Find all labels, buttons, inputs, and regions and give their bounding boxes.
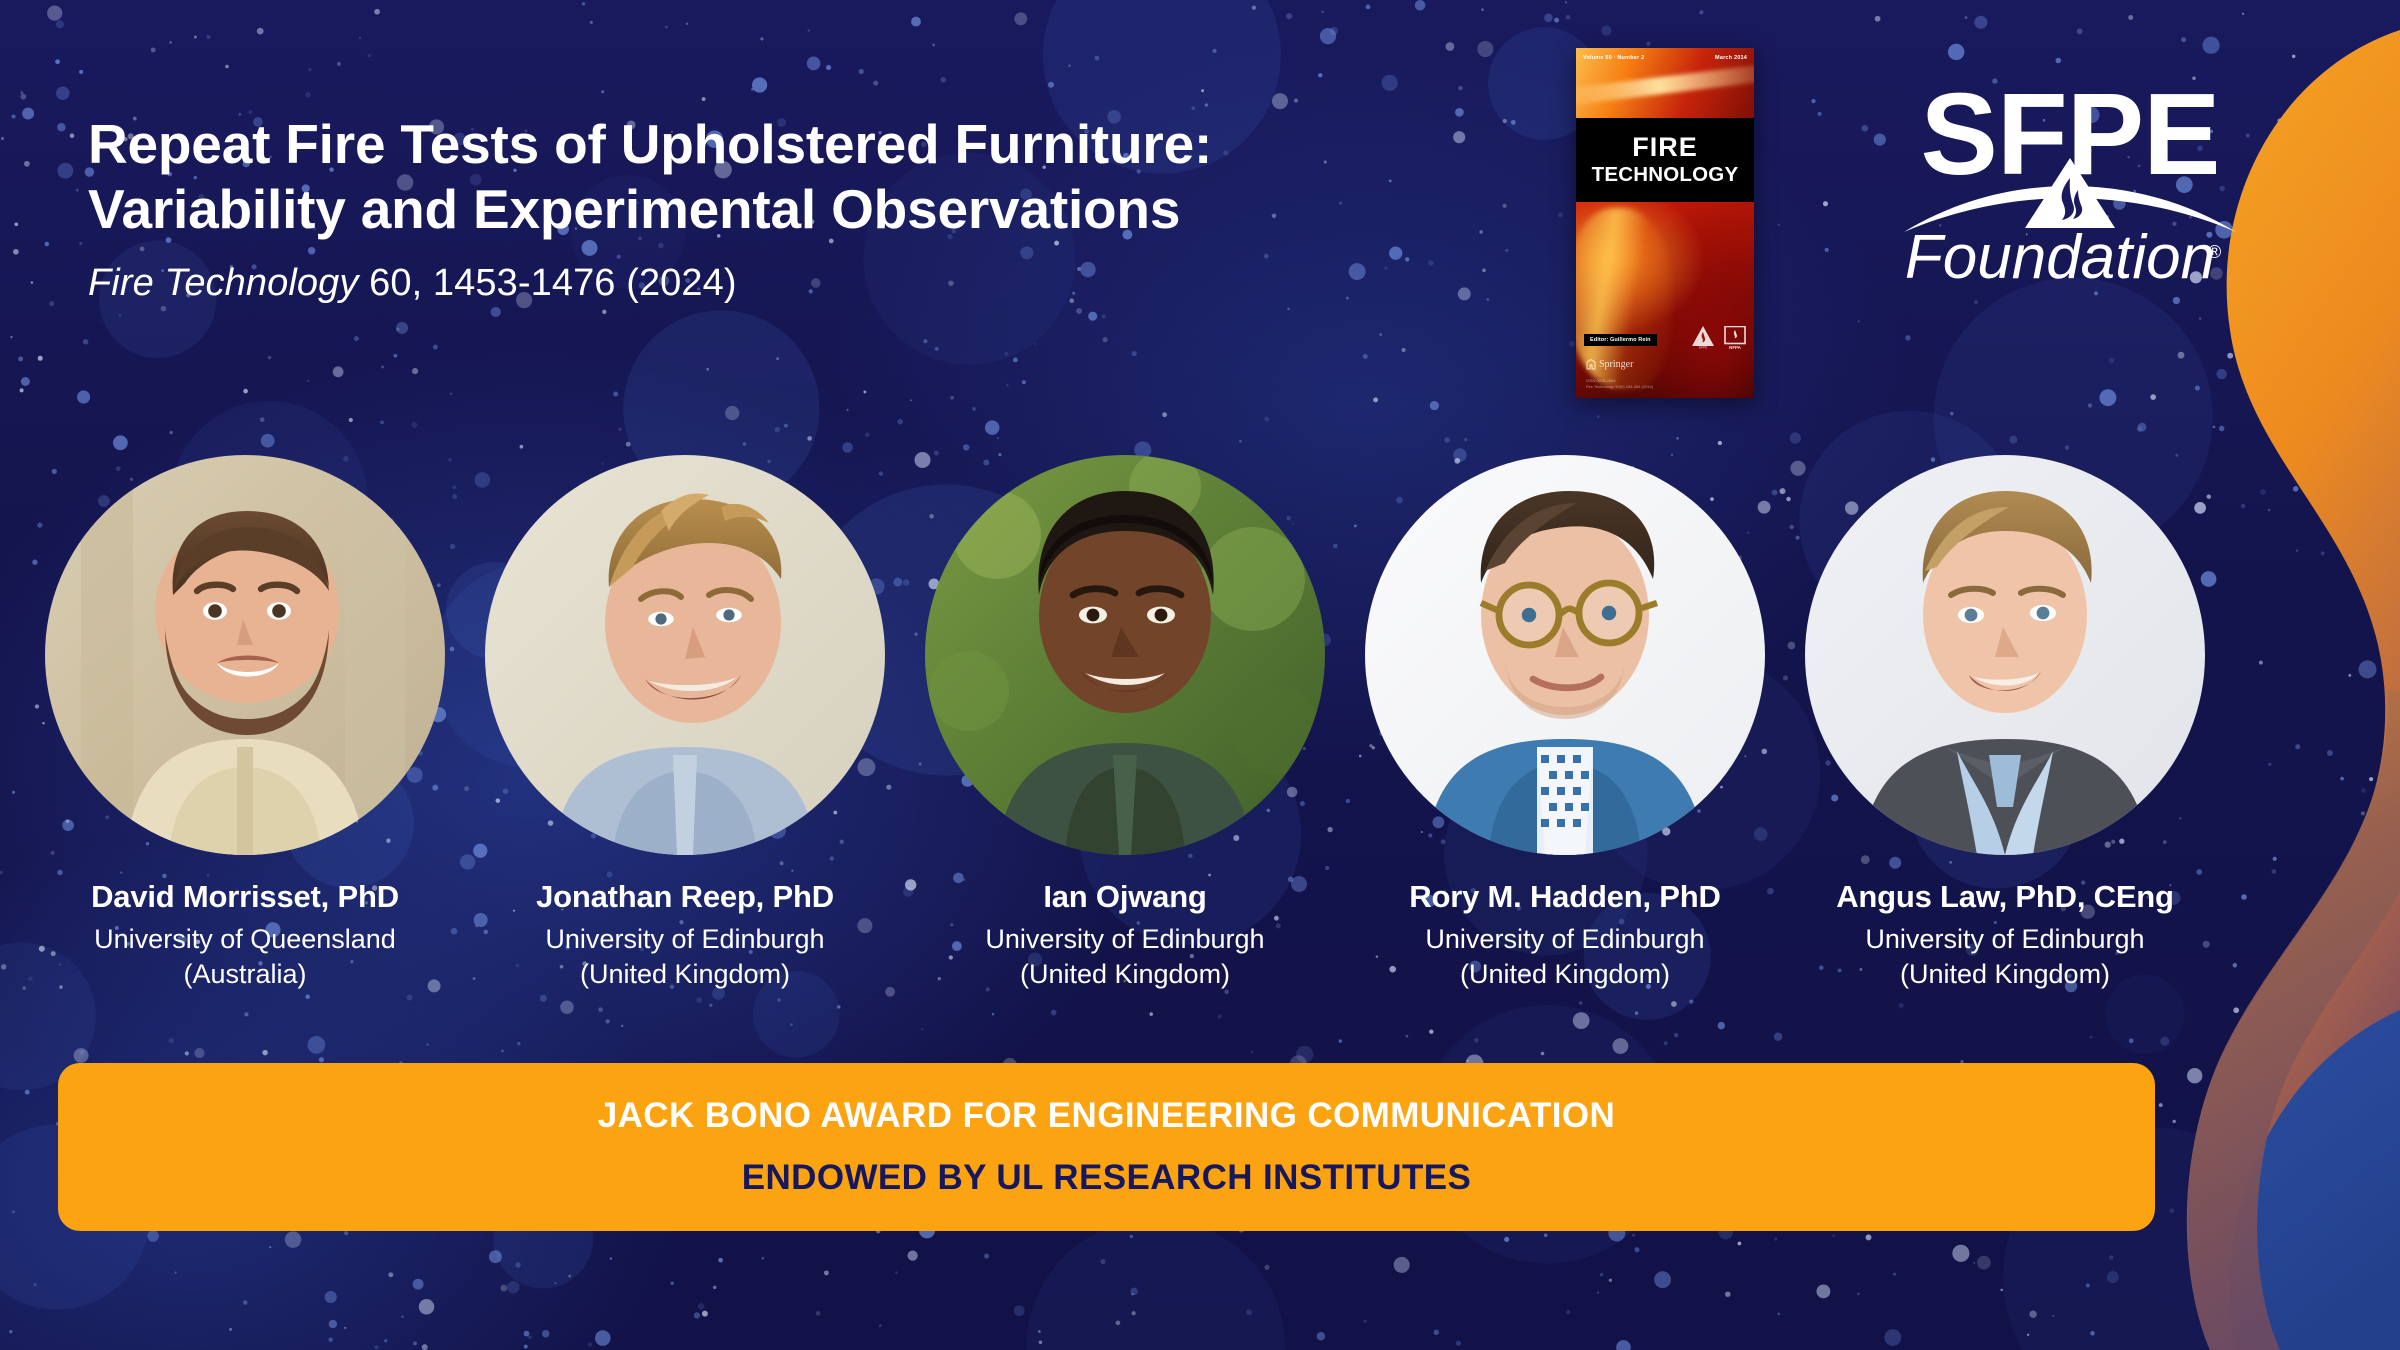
springer-logo: Springer [1586, 359, 1633, 370]
headshot-david-morrisset [45, 455, 445, 855]
author-name: Jonathan Reep, PhD [536, 879, 834, 915]
journal-citation: Fire Technology 60, 1453-1476 (2024) [88, 262, 1558, 305]
springer-wordmark: Springer [1599, 359, 1633, 370]
svg-text:NFPA: NFPA [1729, 345, 1741, 350]
author-affiliation: University of Edinburgh [1865, 924, 2144, 955]
author-card: David Morrisset, PhD University of Queen… [30, 455, 460, 990]
avatar [45, 455, 445, 855]
sfpe-foundation-logo: SFPE Foundation ® [1890, 62, 2250, 290]
journal-cover-image: Volume 50 · Number 2 March 2014 FIRE TEC… [1576, 48, 1754, 398]
sfpe-wordmark: Foundation [1905, 223, 2215, 290]
author-name: Rory M. Hadden, PhD [1409, 879, 1720, 915]
cover-title-line-2: TECHNOLOGY [1592, 164, 1739, 187]
svg-text:SFPE: SFPE [1699, 346, 1709, 350]
cover-editor-label: Editor: Guillermo Rein [1584, 334, 1657, 346]
avatar [925, 455, 1325, 855]
author-name: David Morrisset, PhD [91, 879, 399, 915]
title-line-2: Variability and Experimental Observation… [88, 177, 1558, 242]
nfpa-logo-icon: NFPA [1724, 326, 1746, 350]
author-country: (United Kingdom) [580, 959, 790, 990]
avatar [1365, 455, 1765, 855]
headshot-jonathan-reep [485, 455, 885, 855]
cover-title-line-1: FIRE [1632, 134, 1698, 161]
cover-org-marks: SFPE NFPA [1690, 324, 1746, 350]
cover-issn: ISSN 0015-2684 Fire Technology 50(2) 163… [1586, 378, 1653, 390]
author-affiliation: University of Edinburgh [545, 924, 824, 955]
award-banner: JACK BONO AWARD FOR ENGINEERING COMMUNIC… [58, 1063, 2155, 1231]
author-card: Angus Law, PhD, CEng University of Edinb… [1790, 455, 2220, 990]
cover-volume-text: Volume 50 · Number 2 [1583, 55, 1644, 61]
author-country: (United Kingdom) [1020, 959, 1230, 990]
headshot-ian-ojwang [925, 455, 1325, 855]
award-title: JACK BONO AWARD FOR ENGINEERING COMMUNIC… [598, 1096, 1615, 1136]
registered-trademark-icon: ® [2208, 242, 2221, 262]
poster-header: Repeat Fire Tests of Upholstered Furnitu… [88, 112, 1558, 305]
headshot-rory-hadden [1365, 455, 1765, 855]
author-name: Angus Law, PhD, CEng [1836, 879, 2174, 915]
author-name: Ian Ojwang [1043, 879, 1206, 915]
avatar [485, 455, 885, 855]
authors-row: David Morrisset, PhD University of Queen… [30, 455, 2220, 990]
page-title: Repeat Fire Tests of Upholstered Furnitu… [88, 112, 1558, 242]
author-card: Rory M. Hadden, PhD University of Edinbu… [1350, 455, 1780, 990]
author-affiliation: University of Queensland [94, 924, 396, 955]
journal-name: Fire Technology [88, 262, 358, 304]
award-endowment: ENDOWED BY UL RESEARCH INSTITUTES [742, 1158, 1471, 1198]
cover-title-band: FIRE TECHNOLOGY [1576, 118, 1754, 202]
headshot-angus-law [1805, 455, 2205, 855]
citation-detail: 60, 1453-1476 (2024) [358, 262, 736, 304]
sfpe-triangle-icon: SFPE [1690, 324, 1716, 350]
title-line-1: Repeat Fire Tests of Upholstered Furnitu… [88, 112, 1558, 177]
cover-volume-row: Volume 50 · Number 2 March 2014 [1583, 55, 1747, 61]
author-country: (United Kingdom) [1900, 959, 2110, 990]
springer-horse-icon [1586, 359, 1596, 370]
author-card: Jonathan Reep, PhD University of Edinbur… [470, 455, 900, 990]
cover-date-text: March 2014 [1715, 55, 1747, 61]
avatar [1805, 455, 2205, 855]
cover-issn-line-2: Fire Technology 50(2) 163-454 (2014) [1586, 384, 1653, 390]
author-country: (Australia) [183, 959, 306, 990]
author-card: Ian Ojwang University of Edinburgh (Unit… [910, 455, 1340, 990]
author-affiliation: University of Edinburgh [1425, 924, 1704, 955]
author-country: (United Kingdom) [1460, 959, 1670, 990]
author-affiliation: University of Edinburgh [985, 924, 1264, 955]
